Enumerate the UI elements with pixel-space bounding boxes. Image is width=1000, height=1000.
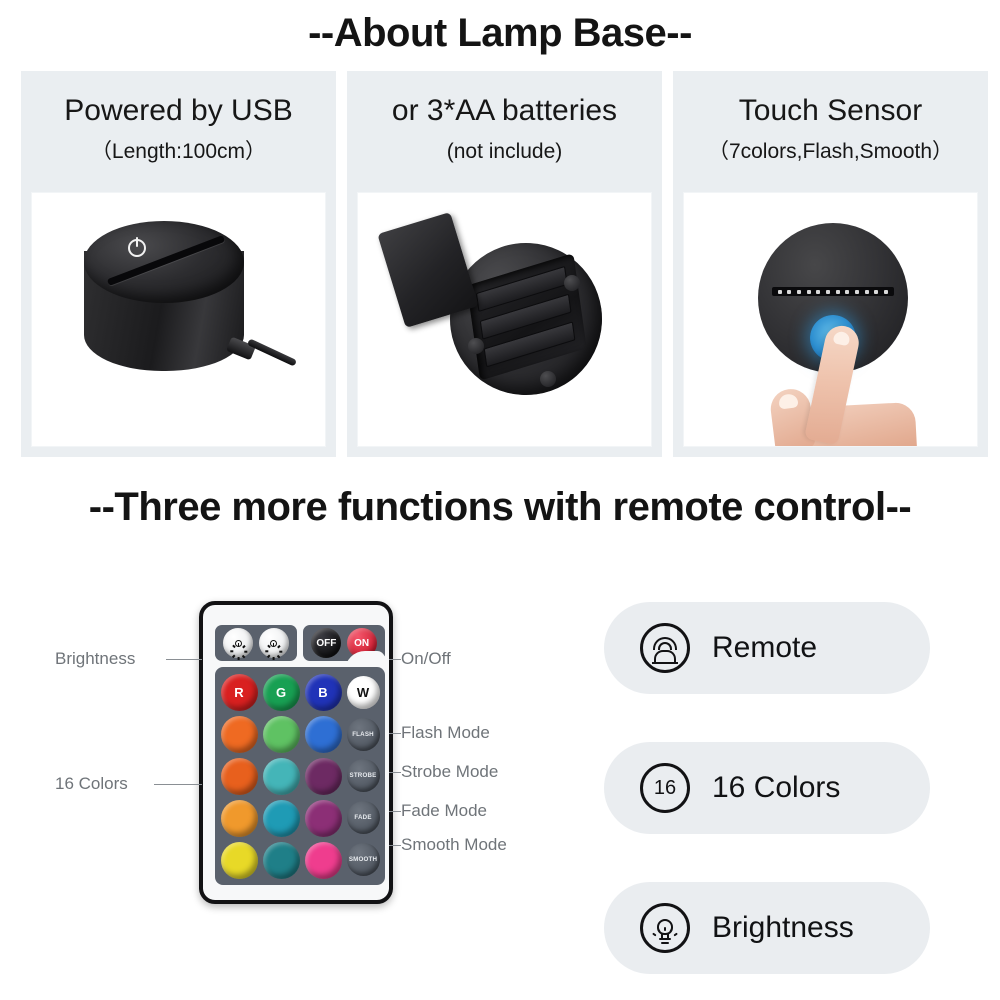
- color-button-amber[interactable]: [221, 800, 258, 837]
- smooth-mode-button[interactable]: SMOOTH: [347, 843, 380, 876]
- photo-touch-sensor: [683, 192, 978, 447]
- callout-label-strobe-mode: Strobe Mode: [401, 762, 498, 782]
- color-button-g[interactable]: G: [263, 674, 300, 711]
- callout-label-on-off: On/Off: [401, 649, 451, 669]
- flash-mode-button[interactable]: FLASH: [347, 718, 380, 751]
- sun-rays: [265, 635, 282, 652]
- remote-base-line: [652, 662, 678, 664]
- color-button-light-green[interactable]: [263, 716, 300, 753]
- feature-label: 16 Colors: [712, 771, 840, 805]
- signal-arc-inner: [658, 642, 672, 650]
- led-dot: [778, 290, 782, 294]
- rubber-foot: [468, 338, 484, 354]
- color-button-teal[interactable]: [263, 800, 300, 837]
- bulb-base-lines: [659, 938, 671, 946]
- remote-button-grid: R G B W FLASH STROBE FADE SMOOTH: [215, 667, 385, 885]
- color-button-grid: R G B: [219, 672, 343, 880]
- feature-label: Remote: [712, 631, 817, 665]
- panel-title: or 3*AA batteries: [347, 93, 662, 129]
- brightness-up-button[interactable]: [223, 628, 253, 658]
- panel-subtitle: (not include): [347, 139, 662, 165]
- led-dot: [836, 290, 840, 294]
- brightness-pad: [215, 625, 297, 661]
- usb-cable: [247, 338, 297, 366]
- panel-subtitle: （7colors,Flash,Smooth）: [673, 139, 988, 165]
- color-button-pink[interactable]: [305, 842, 342, 879]
- feature-label: Brightness: [712, 911, 854, 945]
- color-button-medium-blue[interactable]: [305, 716, 342, 753]
- led-strip: [772, 287, 894, 296]
- led-dot: [797, 290, 801, 294]
- number-16-icon: 16: [640, 763, 690, 813]
- panel-title: Powered by USB: [21, 93, 336, 129]
- battery-well: [467, 253, 587, 381]
- color-button-dark-teal[interactable]: [263, 842, 300, 879]
- feature-pill-16-colors: 16 16 Colors: [604, 742, 930, 834]
- color-button-purple[interactable]: [305, 758, 342, 795]
- lamp-base-underside: [440, 233, 612, 405]
- color-button-cyan[interactable]: [263, 758, 300, 795]
- callout-leader-line: [389, 733, 401, 734]
- bulb-icon: [640, 903, 690, 953]
- photo-battery-compartment: [357, 192, 652, 447]
- remote-signal-icon: [640, 623, 690, 673]
- callout-label-fade-mode: Fade Mode: [401, 801, 487, 821]
- rubber-foot: [564, 275, 580, 291]
- panel-powered-by-usb: Powered by USB （Length:100cm）: [21, 71, 336, 457]
- led-dot: [865, 290, 869, 294]
- power-symbol-icon: [128, 239, 146, 257]
- callout-leader-line: [166, 659, 202, 660]
- color-button-yellow[interactable]: [221, 842, 258, 879]
- callout-leader-line: [389, 659, 401, 660]
- brightness-down-button[interactable]: [259, 628, 289, 658]
- power-off-button[interactable]: OFF: [311, 628, 341, 658]
- remote-control: OFF ON R G B W FLASH STROBE FADE: [199, 601, 393, 904]
- feature-pill-brightness: Brightness: [604, 882, 930, 974]
- page-title-about-lamp-base: --About Lamp Base--: [0, 8, 1000, 58]
- callout-label-16-colors: 16 Colors: [55, 774, 128, 794]
- callout-leader-line: [389, 845, 401, 846]
- section-title-remote-functions: --Three more functions with remote contr…: [0, 482, 1000, 532]
- number-16-text: 16: [643, 766, 687, 810]
- strobe-mode-button[interactable]: STROBE: [347, 759, 380, 792]
- color-button-magenta[interactable]: [305, 800, 342, 837]
- color-button-orange-red[interactable]: [221, 716, 258, 753]
- callout-label-brightness: Brightness: [55, 649, 135, 669]
- callout-label-smooth-mode: Smooth Mode: [401, 835, 507, 855]
- rubber-foot: [540, 371, 556, 387]
- led-dot: [787, 290, 791, 294]
- mode-button-column: W FLASH STROBE FADE SMOOTH: [345, 672, 381, 880]
- color-button-w[interactable]: W: [347, 676, 380, 709]
- callout-leader-line: [389, 772, 401, 773]
- callout-label-flash-mode: Flash Mode: [401, 723, 490, 743]
- color-button-orange[interactable]: [221, 758, 258, 795]
- panel-title: Touch Sensor: [673, 93, 988, 129]
- led-dot: [826, 290, 830, 294]
- photo-usb-lamp-base: [31, 192, 326, 447]
- panel-touch-sensor: Touch Sensor （7colors,Flash,Smooth）: [673, 71, 988, 457]
- feature-pill-remote: Remote: [604, 602, 930, 694]
- color-button-b[interactable]: B: [305, 674, 342, 711]
- color-button-r[interactable]: R: [221, 674, 258, 711]
- callout-leader-line: [389, 811, 401, 812]
- led-dot: [807, 290, 811, 294]
- sun-icon: [233, 638, 244, 649]
- led-dot: [845, 290, 849, 294]
- fade-mode-button[interactable]: FADE: [347, 801, 380, 834]
- callout-leader-line: [154, 784, 202, 785]
- led-dot: [874, 290, 878, 294]
- panel-subtitle: （Length:100cm）: [21, 139, 336, 165]
- led-dot: [884, 290, 888, 294]
- sun-icon: [268, 638, 279, 649]
- led-dot: [855, 290, 859, 294]
- sun-rays: [230, 635, 247, 652]
- led-dot: [816, 290, 820, 294]
- panel-aa-batteries: or 3*AA batteries (not include): [347, 71, 662, 457]
